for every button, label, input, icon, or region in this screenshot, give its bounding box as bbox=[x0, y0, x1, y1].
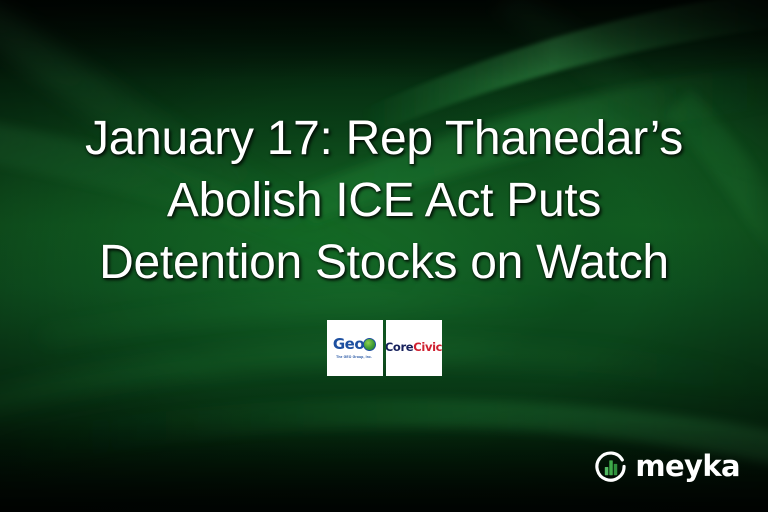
headline-line-1: January 17: Rep Thanedar’s bbox=[0, 108, 768, 170]
headline-line-3: Detention Stocks on Watch bbox=[0, 232, 768, 294]
geo-tagline: The GEO Group, Inc. bbox=[337, 355, 373, 359]
page-title: January 17: Rep Thanedar’s Abolish ICE A… bbox=[0, 108, 768, 294]
corecivic-word-civic: Civic bbox=[413, 340, 441, 354]
headline-line-2: Abolish ICE Act Puts bbox=[0, 170, 768, 232]
logo-tile-corecivic: CoreCivic bbox=[386, 320, 442, 376]
banner-image: January 17: Rep Thanedar’s Abolish ICE A… bbox=[0, 0, 768, 512]
company-logo-row: Geo The GEO Group, Inc. CoreCivic bbox=[0, 320, 768, 376]
corecivic-wordmark: CoreCivic bbox=[386, 342, 442, 354]
logo-tile-geo-group: Geo The GEO Group, Inc. bbox=[327, 320, 383, 376]
geo-wordmark: Geo bbox=[333, 337, 364, 352]
geo-globe-icon bbox=[363, 338, 376, 351]
meyka-wordmark: meyka bbox=[635, 452, 740, 481]
circle-bar-chart-icon bbox=[593, 449, 628, 484]
corecivic-word-core: Core bbox=[386, 340, 414, 354]
meyka-watermark: meyka bbox=[593, 449, 740, 484]
geo-logo-mark: Geo bbox=[333, 337, 376, 352]
